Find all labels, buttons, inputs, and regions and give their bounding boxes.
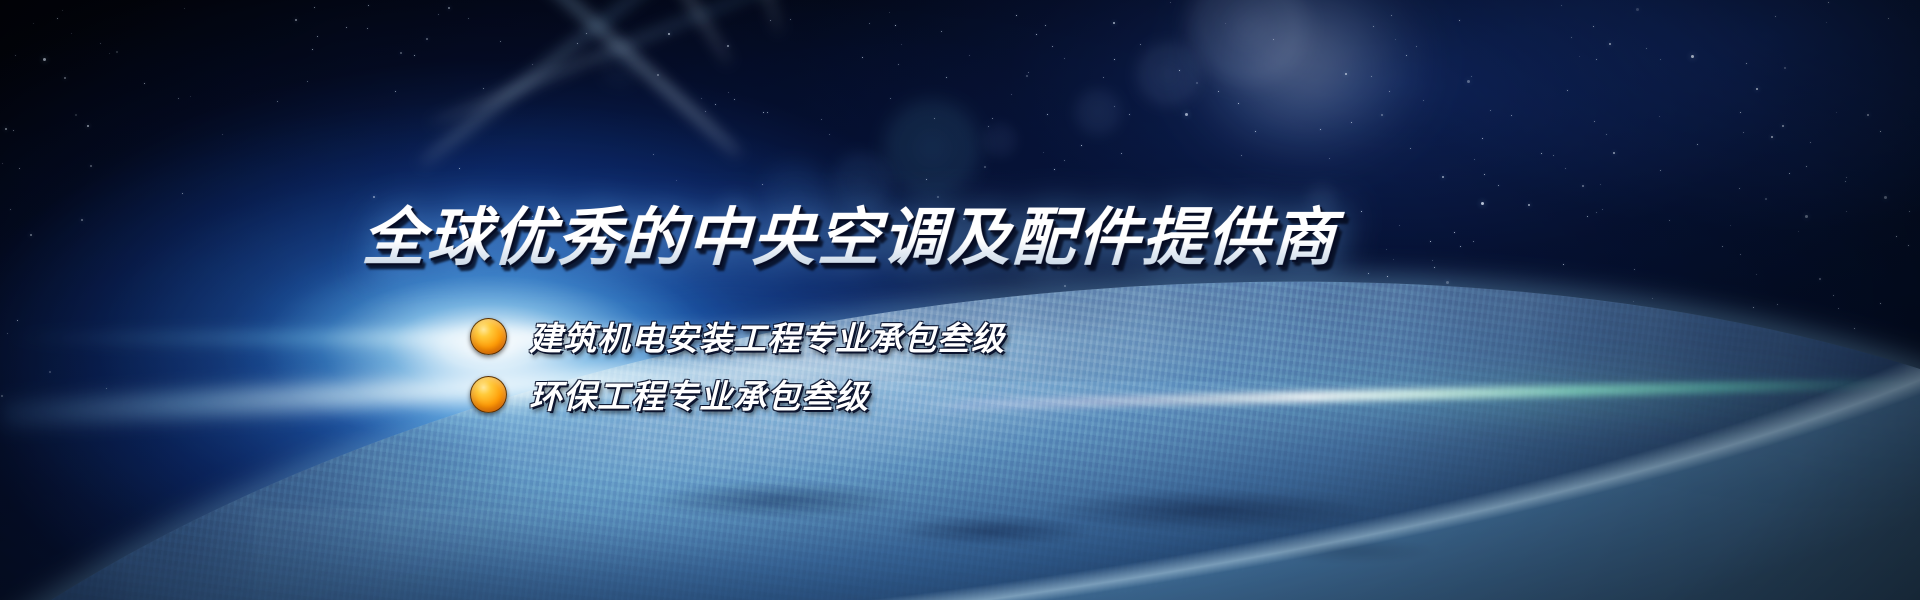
banner-content: 全球优秀的中央空调及配件提供商 建筑机电安装工程专业承包叁级 环保工程专业承包叁… [0, 0, 1920, 600]
orange-bullet-icon [470, 376, 507, 413]
bullet-item: 环保工程专业承包叁级 [470, 366, 1005, 422]
banner-headline: 全球优秀的中央空调及配件提供商 [361, 204, 1573, 272]
bullet-item: 建筑机电安装工程专业承包叁级 [470, 308, 1005, 364]
hero-banner: 全球优秀的中央空调及配件提供商 建筑机电安装工程专业承包叁级 环保工程专业承包叁… [0, 0, 1920, 600]
orange-bullet-icon [470, 318, 507, 355]
bullet-item-label: 环保工程专业承包叁级 [529, 370, 869, 418]
banner-bullet-list: 建筑机电安装工程专业承包叁级 环保工程专业承包叁级 [470, 308, 1005, 424]
bullet-item-label: 建筑机电安装工程专业承包叁级 [529, 312, 1005, 360]
